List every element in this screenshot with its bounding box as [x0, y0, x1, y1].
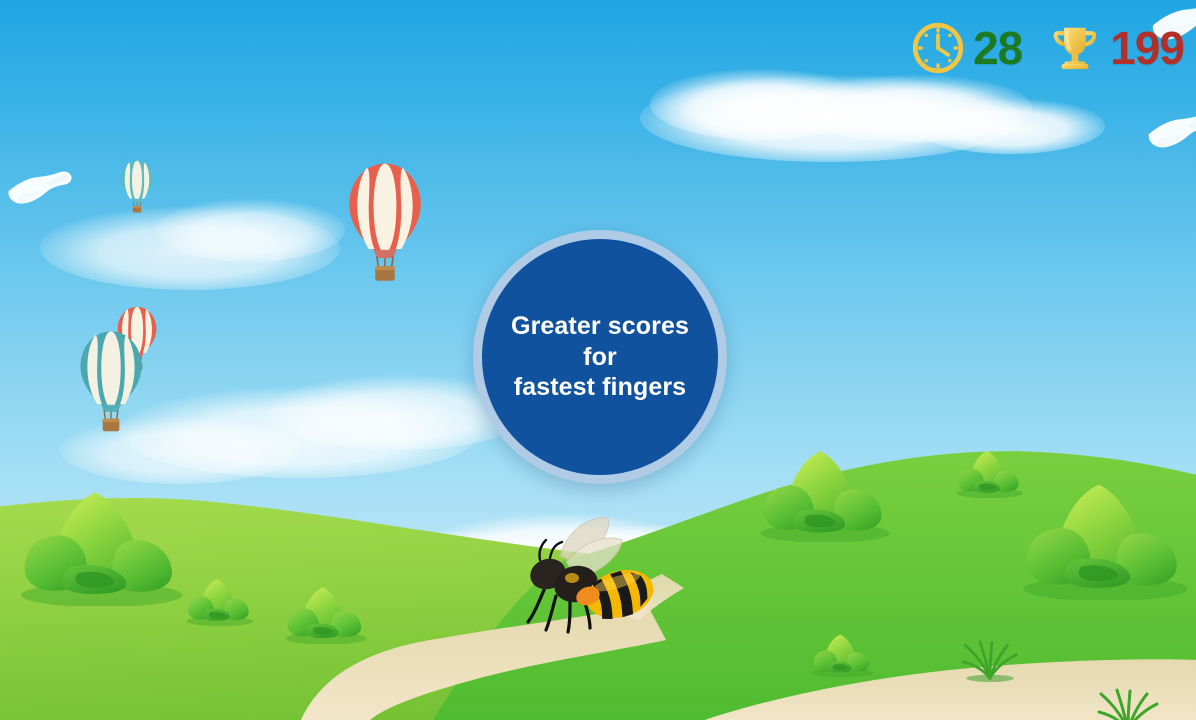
trophy-icon: [1048, 21, 1102, 75]
timer-value: 28: [973, 25, 1022, 71]
balloon-small-teal[interactable]: [121, 161, 153, 213]
bird-left: [8, 171, 71, 203]
clock-icon: [911, 21, 965, 75]
balloon-large-red[interactable]: [349, 164, 421, 281]
bird-right: [1149, 113, 1196, 147]
bubble-message: Greater scores for fastest fingers: [497, 311, 703, 403]
game-screen: Greater scores for fastest fingers: [0, 0, 1196, 720]
score-group: 199: [1048, 21, 1184, 75]
message-bubble[interactable]: Greater scores for fastest fingers: [473, 230, 727, 484]
hud-bar: 28 199: [911, 0, 1196, 96]
score-value: 199: [1110, 25, 1184, 71]
timer-group: 28: [911, 21, 1022, 75]
